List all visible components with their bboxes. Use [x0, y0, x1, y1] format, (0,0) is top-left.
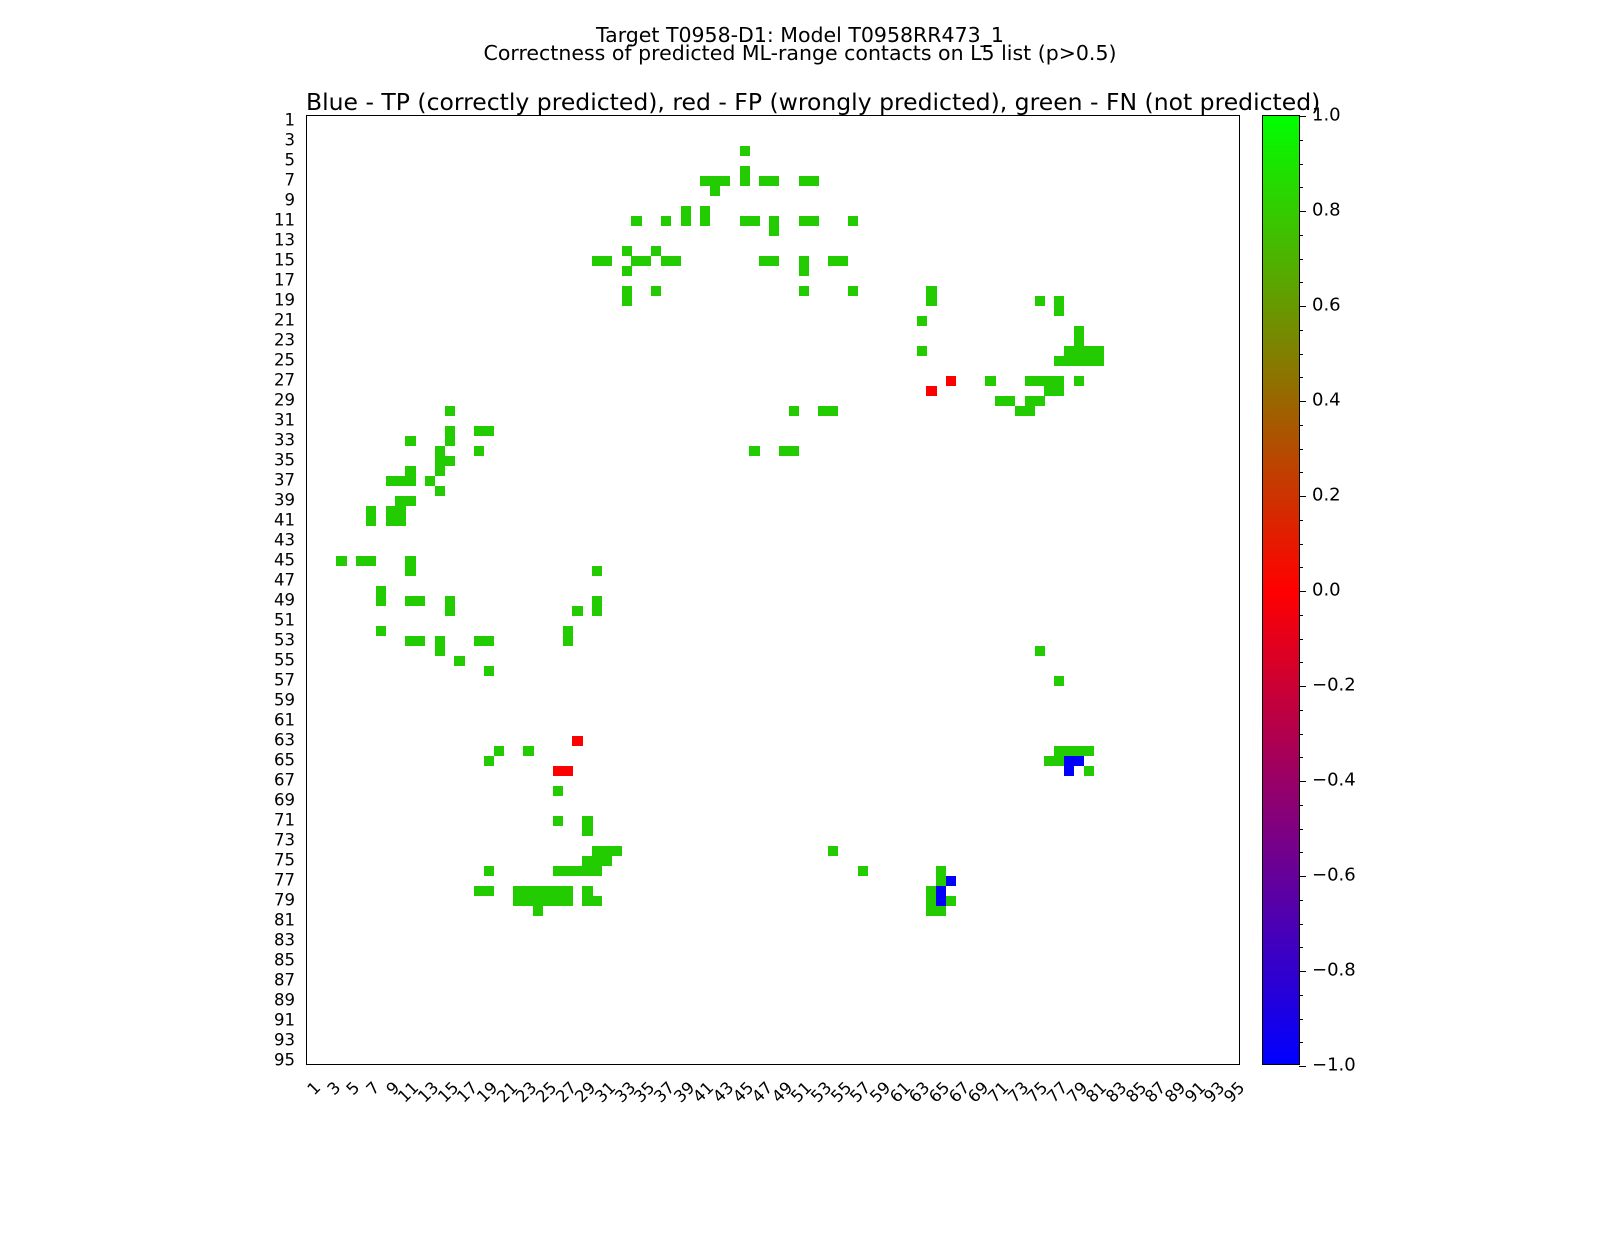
colorbar-tick-mark [1299, 971, 1306, 972]
contact-cell-fn [710, 186, 720, 196]
contact-cell-fn [828, 846, 838, 856]
x-tick-mark [1010, 1064, 1011, 1065]
contact-cell-fn [376, 626, 386, 636]
y-tick-label: 91 [274, 1011, 295, 1030]
contact-cell-fn [1044, 756, 1054, 766]
contact-cell-fn [523, 896, 533, 906]
x-tick-mark [440, 1064, 441, 1065]
colorbar-tick-mark [1299, 377, 1303, 378]
y-tick-label: 37 [274, 471, 295, 490]
contact-cell-fp [563, 766, 573, 776]
y-tick-mark [306, 1061, 307, 1062]
y-tick-label: 95 [274, 1051, 295, 1070]
y-tick-mark [306, 581, 307, 582]
x-tick-mark [568, 1064, 569, 1065]
x-tick-mark [705, 1064, 706, 1065]
contact-cell-fn [926, 896, 936, 906]
contact-cell-fn [395, 506, 405, 516]
x-tick-mark [1187, 1064, 1188, 1065]
contact-cell-fn [435, 456, 445, 466]
contact-cell-fn [631, 216, 641, 226]
contact-cell-fn [376, 596, 386, 606]
y-tick-mark [306, 691, 307, 692]
contact-cell-fn [808, 216, 818, 226]
y-tick-mark [306, 171, 307, 172]
y-tick-mark [306, 351, 307, 352]
contact-cell-fn [799, 266, 809, 276]
contact-cell-fn [1084, 766, 1094, 776]
contact-cell-tp [936, 896, 946, 906]
y-tick-mark [306, 951, 307, 952]
contact-cell-tp [936, 886, 946, 896]
x-tick-mark [1216, 1064, 1217, 1065]
x-tick-mark [941, 1064, 942, 1065]
contact-cell-fn [789, 446, 799, 456]
contact-cell-fn [445, 606, 455, 616]
contact-cell-fn [1064, 346, 1074, 356]
contact-cell-fn [936, 906, 946, 916]
y-tick-label: 83 [274, 931, 295, 950]
y-tick-mark [306, 391, 307, 392]
contact-cell-fn [582, 816, 592, 826]
y-tick-mark [306, 711, 307, 712]
contact-cell-fn [602, 256, 612, 266]
colorbar-tick-mark [1299, 330, 1303, 331]
contact-cell-fn [838, 256, 848, 266]
x-tick-mark [558, 1064, 559, 1065]
y-tick-label: 7 [285, 171, 296, 190]
x-tick-mark [312, 1064, 313, 1065]
x-tick-mark [695, 1064, 696, 1065]
x-tick-mark [1000, 1064, 1001, 1065]
x-tick-mark [371, 1064, 372, 1065]
contact-cell-fn [563, 896, 573, 906]
colorbar-tick-mark [1299, 496, 1306, 497]
y-tick-mark [306, 861, 307, 862]
contact-cell-tp [1064, 756, 1074, 766]
contact-cell-fn [376, 586, 386, 596]
colorbar-tick-label: 0.0 [1312, 580, 1341, 601]
contact-cell-fn [582, 866, 592, 876]
contact-cell-fn [582, 826, 592, 836]
y-tick-mark [306, 1011, 307, 1012]
x-tick-mark [882, 1064, 883, 1065]
y-tick-label: 79 [274, 891, 295, 910]
contact-cell-fn [592, 566, 602, 576]
x-tick-mark [1079, 1064, 1080, 1065]
contact-cell-fn [1044, 376, 1054, 386]
y-tick-label: 17 [274, 271, 295, 290]
contact-cell-fn [474, 426, 484, 436]
y-tick-mark [306, 671, 307, 672]
x-tick-mark [479, 1064, 480, 1065]
contact-cell-fn [740, 166, 750, 176]
x-tick-mark [627, 1064, 628, 1065]
y-tick-label: 85 [274, 951, 295, 970]
colorbar-tick-mark [1299, 544, 1303, 545]
y-tick-label: 33 [274, 431, 295, 450]
contact-cell-fn [386, 516, 396, 526]
contact-cell-fn [622, 296, 632, 306]
colorbar-tick-mark [1299, 757, 1303, 758]
contact-cell-fn [533, 906, 543, 916]
contact-cell-tp [946, 876, 956, 886]
contact-cell-fn [661, 256, 671, 266]
colorbar-tick-mark [1299, 924, 1303, 925]
x-tick-mark [715, 1064, 716, 1065]
contact-cell-fn [700, 176, 710, 186]
contact-cell-fn [553, 896, 563, 906]
colorbar-tick-mark [1299, 852, 1303, 853]
contact-cell-fn [1054, 296, 1064, 306]
x-tick-mark [322, 1064, 323, 1065]
y-tick-label: 15 [274, 251, 295, 270]
contact-cell-fn [494, 746, 504, 756]
y-tick-label: 69 [274, 791, 295, 810]
contact-cell-fn [523, 746, 533, 756]
contact-cell-fn [681, 206, 691, 216]
contact-cell-fn [936, 866, 946, 876]
x-tick-mark [548, 1064, 549, 1065]
x-tick-mark [1030, 1064, 1031, 1065]
y-tick-mark [306, 151, 307, 152]
y-tick-mark [306, 1051, 307, 1052]
colorbar-tick-mark [1299, 781, 1306, 782]
contact-cell-fn [533, 886, 543, 896]
x-tick-mark [666, 1064, 667, 1065]
x-tick-mark [853, 1064, 854, 1065]
y-tick-label: 65 [274, 751, 295, 770]
y-tick-mark [306, 501, 307, 502]
y-tick-label: 39 [274, 491, 295, 510]
contact-cell-tp [1064, 766, 1074, 776]
y-tick-label: 3 [285, 131, 296, 150]
contact-cell-fn [484, 756, 494, 766]
contact-cell-fn [592, 606, 602, 616]
x-tick-mark [843, 1064, 844, 1065]
y-tick-mark [306, 781, 307, 782]
y-tick-mark [306, 201, 307, 202]
colorbar-tick-mark [1299, 401, 1306, 402]
y-tick-label: 1 [285, 111, 296, 130]
contact-cell-fn [553, 786, 563, 796]
x-tick-mark [400, 1064, 401, 1065]
contact-cell-fn [395, 516, 405, 526]
y-tick-label: 67 [274, 771, 295, 790]
y-tick-mark [306, 541, 307, 542]
y-tick-mark [306, 411, 307, 412]
y-tick-mark [306, 441, 307, 442]
x-tick-mark [1207, 1064, 1208, 1065]
contact-cell-fn [779, 446, 789, 456]
y-tick-mark [306, 611, 307, 612]
colorbar-tick-mark [1299, 805, 1303, 806]
colorbar-tick-mark [1299, 472, 1303, 473]
contact-cell-fn [572, 866, 582, 876]
colorbar-tick-mark [1299, 282, 1303, 283]
y-tick-mark [306, 401, 307, 402]
contact-cell-fn [1064, 746, 1074, 756]
contact-cell-fn [1044, 386, 1054, 396]
y-tick-mark [306, 461, 307, 462]
contact-cell-fn [828, 256, 838, 266]
y-tick-label: 53 [274, 631, 295, 650]
y-tick-mark [306, 531, 307, 532]
y-tick-label: 93 [274, 1031, 295, 1050]
colorbar-tick-mark [1299, 995, 1303, 996]
x-tick-mark [1157, 1064, 1158, 1065]
contact-cell-fn [435, 636, 445, 646]
contact-cell-fn [700, 216, 710, 226]
y-tick-mark [306, 161, 307, 162]
y-tick-mark [306, 571, 307, 572]
colorbar-tick-label: 0.6 [1312, 295, 1341, 316]
x-tick-mark [912, 1064, 913, 1065]
contact-cell-fn [946, 896, 956, 906]
colorbar-tick-mark [1299, 306, 1306, 307]
contact-cell-fn [592, 846, 602, 856]
y-tick-mark [306, 621, 307, 622]
colorbar-tick-mark [1299, 235, 1303, 236]
contact-cell-fn [395, 476, 405, 486]
contact-cell-fn [435, 446, 445, 456]
y-tick-mark [306, 821, 307, 822]
x-tick-mark [774, 1064, 775, 1065]
contact-cell-fn [513, 896, 523, 906]
y-tick-mark [306, 1021, 307, 1022]
y-tick-mark [306, 961, 307, 962]
y-tick-mark [306, 131, 307, 132]
colorbar-tick-mark [1299, 591, 1306, 592]
axes-title: Blue - TP (correctly predicted), red - F… [306, 88, 1240, 116]
contact-cell-fn [484, 886, 494, 896]
y-tick-label: 77 [274, 871, 295, 890]
contact-cell-fn [1054, 356, 1064, 366]
y-tick-mark [306, 701, 307, 702]
contact-cell-fn [405, 566, 415, 576]
x-tick-mark [686, 1064, 687, 1065]
y-tick-label: 57 [274, 671, 295, 690]
colorbar-tick-mark [1299, 900, 1303, 901]
contact-cell-fn [799, 216, 809, 226]
contact-cell-fn [769, 216, 779, 226]
x-tick-mark [823, 1064, 824, 1065]
colorbar-tick-mark [1299, 354, 1303, 355]
contact-cell-fn [592, 256, 602, 266]
y-tick-mark [306, 381, 307, 382]
y-tick-mark [306, 871, 307, 872]
x-tick-mark [1118, 1064, 1119, 1065]
contact-cell-fn [749, 216, 759, 226]
colorbar-tick-label: −0.2 [1312, 675, 1356, 696]
y-tick-mark [306, 321, 307, 322]
x-tick-mark [1108, 1064, 1109, 1065]
x-tick-mark [587, 1064, 588, 1065]
x-tick-mark [1197, 1064, 1198, 1065]
x-tick-mark [391, 1064, 392, 1065]
y-tick-mark [306, 991, 307, 992]
contact-cell-fn [700, 206, 710, 216]
x-tick-mark [1098, 1064, 1099, 1065]
y-tick-mark [306, 281, 307, 282]
y-tick-mark [306, 811, 307, 812]
x-tick-mark [518, 1064, 519, 1065]
x-tick-mark [430, 1064, 431, 1065]
contact-cell-fn [592, 856, 602, 866]
contact-cell-fn [484, 636, 494, 646]
y-tick-mark [306, 791, 307, 792]
y-tick-label: 35 [274, 451, 295, 470]
y-tick-label: 31 [274, 411, 295, 430]
x-tick-mark [1226, 1064, 1227, 1065]
y-tick-mark [306, 511, 307, 512]
y-tick-label: 59 [274, 691, 295, 710]
y-tick-mark [306, 361, 307, 362]
x-tick-mark [420, 1064, 421, 1065]
contact-cell-fn [405, 496, 415, 506]
contact-cell-fn [484, 666, 494, 676]
contact-cell-fn [769, 256, 779, 266]
colorbar-tick-mark [1299, 187, 1303, 188]
y-tick-mark [306, 641, 307, 642]
contact-cell-fn [563, 866, 573, 876]
contact-cell-fn [435, 466, 445, 476]
x-tick-mark [450, 1064, 451, 1065]
x-tick-mark [332, 1064, 333, 1065]
y-tick-mark [306, 241, 307, 242]
contact-cell-fn [553, 886, 563, 896]
contact-cell-fn [926, 886, 936, 896]
x-tick-mark [459, 1064, 460, 1065]
y-tick-label: 71 [274, 811, 295, 830]
y-tick-mark [306, 761, 307, 762]
contact-cell-fn [710, 176, 720, 186]
contact-cell-fn [405, 596, 415, 606]
contact-cell-fn [415, 596, 425, 606]
contact-cell-fn [474, 446, 484, 456]
x-tick-mark [980, 1064, 981, 1065]
contact-cell-fn [563, 626, 573, 636]
x-tick-mark [813, 1064, 814, 1065]
contact-cell-fn [405, 556, 415, 566]
y-tick-mark [306, 141, 307, 142]
y-tick-mark [306, 451, 307, 452]
x-tick-mark [656, 1064, 657, 1065]
y-tick-label: 11 [274, 211, 295, 230]
contact-cell-fn [425, 476, 435, 486]
colorbar-tick-mark [1299, 1066, 1306, 1067]
contact-cell-fn [1035, 376, 1045, 386]
y-tick-mark [306, 751, 307, 752]
contact-cell-fn [1054, 746, 1064, 756]
colorbar-tick-label: 1.0 [1312, 105, 1341, 126]
contact-cell-fn [582, 856, 592, 866]
colorbar-tick-label: −1.0 [1312, 1055, 1356, 1076]
y-tick-mark [306, 291, 307, 292]
colorbar-tick-mark [1299, 615, 1303, 616]
contact-cell-fn [474, 636, 484, 646]
contact-cell-fn [454, 656, 464, 666]
contact-cell-fn [582, 896, 592, 906]
x-tick-mark [735, 1064, 736, 1065]
colorbar-tick-label: 0.2 [1312, 485, 1341, 506]
y-tick-mark [306, 741, 307, 742]
contact-cell-fn [985, 376, 995, 386]
colorbar-tick-mark [1299, 211, 1306, 212]
y-tick-mark [306, 631, 307, 632]
x-tick-mark [381, 1064, 382, 1065]
contact-cell-fn [749, 446, 759, 456]
x-tick-mark [1167, 1064, 1168, 1065]
contact-cell-fn [563, 636, 573, 646]
y-tick-label: 49 [274, 591, 295, 610]
y-tick-label: 45 [274, 551, 295, 570]
contact-cell-fn [1054, 306, 1064, 316]
contact-cell-fn [799, 256, 809, 266]
x-tick-mark [509, 1064, 510, 1065]
contact-cell-fp [926, 386, 936, 396]
contact-cell-fn [1094, 346, 1104, 356]
colorbar-tick-mark [1299, 686, 1306, 687]
contact-cell-fn [1074, 336, 1084, 346]
y-tick-label: 75 [274, 851, 295, 870]
contact-cell-fn [405, 476, 415, 486]
colorbar-tick-label: −0.4 [1312, 770, 1356, 791]
y-tick-mark [306, 481, 307, 482]
y-tick-mark [306, 651, 307, 652]
y-tick-label: 13 [274, 231, 295, 250]
contact-cell-fn [405, 436, 415, 446]
x-tick-mark [902, 1064, 903, 1065]
contact-cell-fn [405, 636, 415, 646]
contact-cell-fn [651, 246, 661, 256]
y-tick-mark [306, 261, 307, 262]
colorbar-tick-mark [1299, 425, 1303, 426]
x-tick-mark [646, 1064, 647, 1065]
x-tick-mark [538, 1064, 539, 1065]
contact-cell-fn [848, 286, 858, 296]
contact-cell-fn [1035, 646, 1045, 656]
contact-cell-fn [651, 286, 661, 296]
y-tick-mark [306, 491, 307, 492]
x-tick-mark [577, 1064, 578, 1065]
x-tick-mark [1089, 1064, 1090, 1065]
contact-cell-fn [395, 496, 405, 506]
y-tick-mark [306, 801, 307, 802]
y-tick-mark [306, 771, 307, 772]
contact-cell-fn [1074, 326, 1084, 336]
y-tick-mark [306, 981, 307, 982]
contact-cell-fn [445, 596, 455, 606]
contact-cell-fn [759, 176, 769, 186]
y-tick-mark [306, 251, 307, 252]
contact-map-plot-area[interactable] [306, 115, 1240, 1065]
contact-cell-fn [1054, 386, 1064, 396]
contact-cell-fn [641, 256, 651, 266]
y-tick-mark [306, 681, 307, 682]
y-tick-mark [306, 1001, 307, 1002]
contact-cell-fn [484, 426, 494, 436]
colorbar[interactable] [1262, 115, 1300, 1065]
y-tick-mark [306, 911, 307, 912]
contact-cell-fn [740, 216, 750, 226]
y-tick-mark [306, 181, 307, 182]
x-tick-mark [862, 1064, 863, 1065]
contact-cell-fn [405, 466, 415, 476]
y-tick-mark [306, 721, 307, 722]
x-tick-mark [764, 1064, 765, 1065]
x-tick-mark [489, 1064, 490, 1065]
